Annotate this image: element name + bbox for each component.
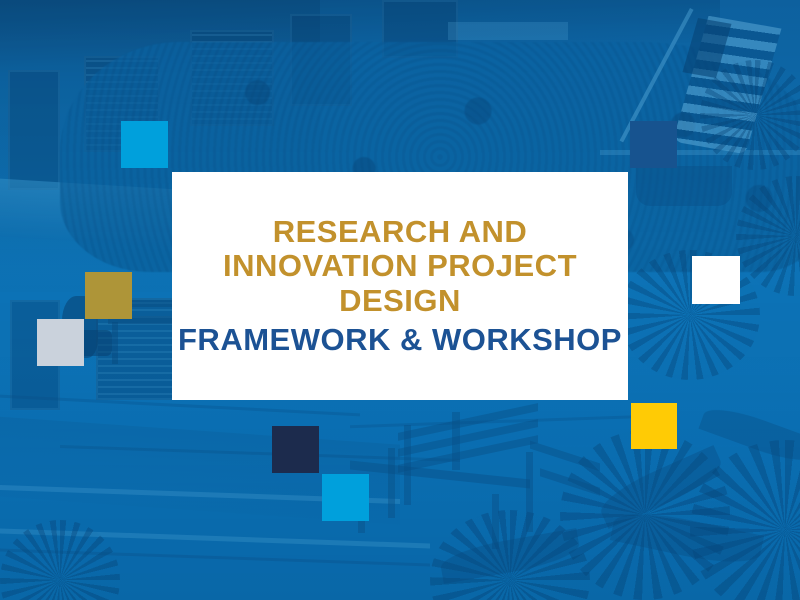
poster-canvas: RESEARCH AND INNOVATION PROJECT DESIGN F… <box>0 0 800 600</box>
title-line-1: RESEARCH AND <box>273 215 528 250</box>
square-cyan-bottom <box>322 474 369 521</box>
title-line-2: INNOVATION PROJECT <box>223 249 577 284</box>
square-cyan-top-left <box>121 121 168 168</box>
square-olive-gold-left <box>85 272 132 319</box>
title-card: RESEARCH AND INNOVATION PROJECT DESIGN F… <box>172 172 628 400</box>
square-dark-navy-bottom <box>272 426 319 473</box>
square-deep-blue-top-right <box>630 121 677 168</box>
square-bright-yellow-right <box>631 403 677 449</box>
title-line-3: DESIGN <box>339 284 461 319</box>
square-light-gray-left <box>37 319 84 366</box>
subtitle-line: FRAMEWORK & WORKSHOP <box>178 323 622 358</box>
square-white-right <box>692 256 740 304</box>
